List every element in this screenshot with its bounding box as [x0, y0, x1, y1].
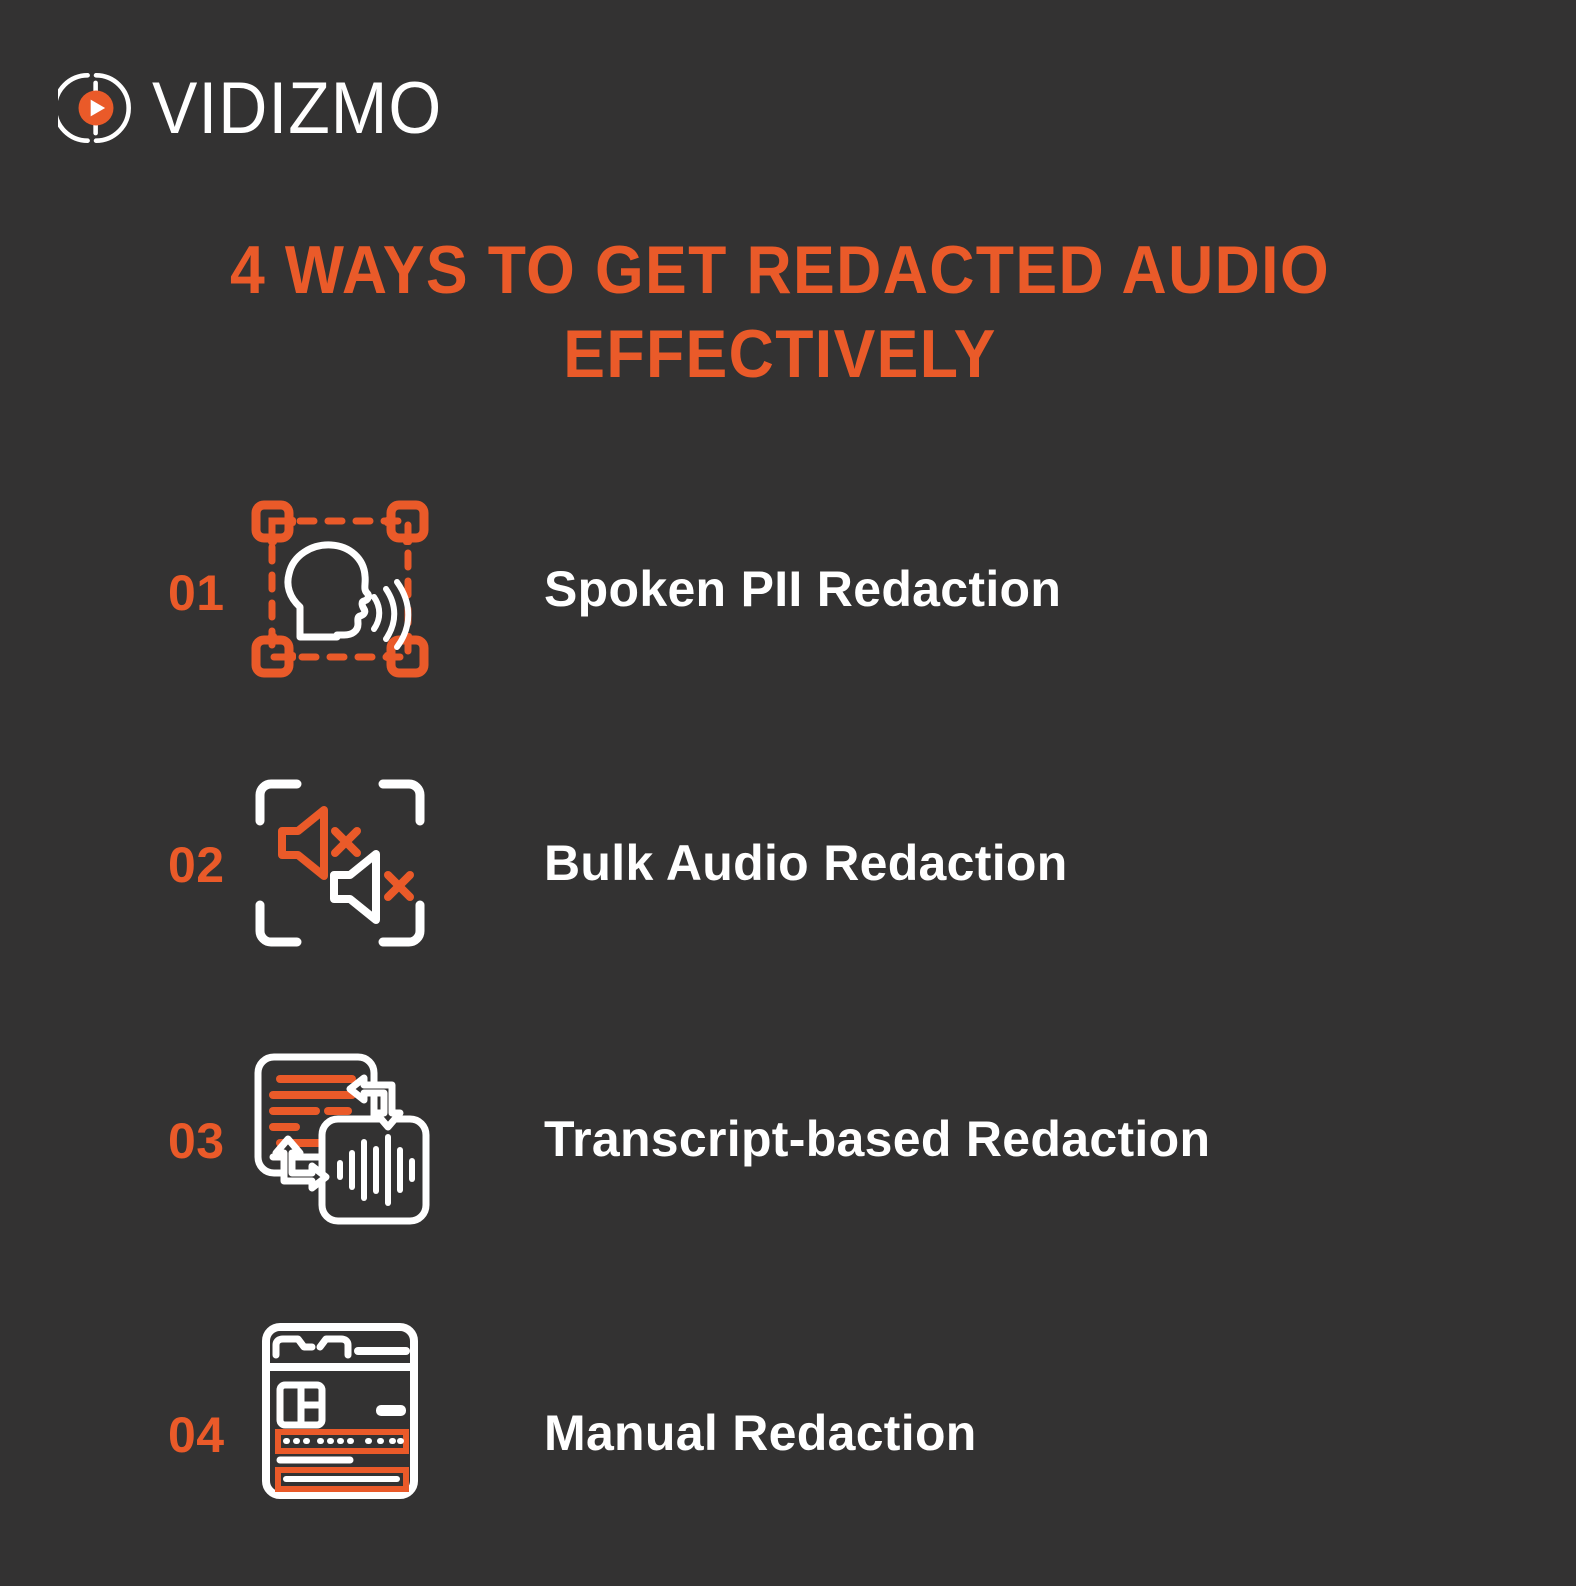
step-label: Manual Redaction	[544, 1404, 977, 1462]
brand-logo: VIDIZMO	[58, 66, 442, 150]
transcript-waveform-exchange-icon	[240, 1037, 440, 1237]
steps-list: 01	[0, 452, 1576, 1548]
infographic-page: VIDIZMO 4 WAYS TO GET REDACTED AUDIO EFF…	[0, 0, 1576, 1586]
muted-speakers-brackets-icon	[240, 763, 440, 963]
speaking-head-selection-box-icon	[240, 489, 440, 689]
list-item: 04	[0, 1274, 1576, 1548]
list-item: 01	[0, 452, 1576, 726]
play-circle-logo-icon	[58, 70, 134, 146]
list-item: 02	[0, 726, 1576, 1000]
page-title: 4 WAYS TO GET REDACTED AUDIO EFFECTIVELY	[173, 228, 1387, 397]
step-number: 03	[0, 1112, 232, 1170]
step-label: Spoken PII Redaction	[544, 560, 1061, 618]
step-number: 01	[0, 564, 232, 622]
browser-window-redaction-bars-icon	[240, 1311, 440, 1511]
list-item: 03	[0, 1000, 1576, 1274]
step-label: Bulk Audio Redaction	[544, 834, 1068, 892]
step-number: 02	[0, 836, 232, 894]
step-number: 04	[0, 1406, 232, 1464]
step-label: Transcript-based Redaction	[544, 1110, 1210, 1168]
brand-name: VIDIZMO	[152, 71, 442, 144]
